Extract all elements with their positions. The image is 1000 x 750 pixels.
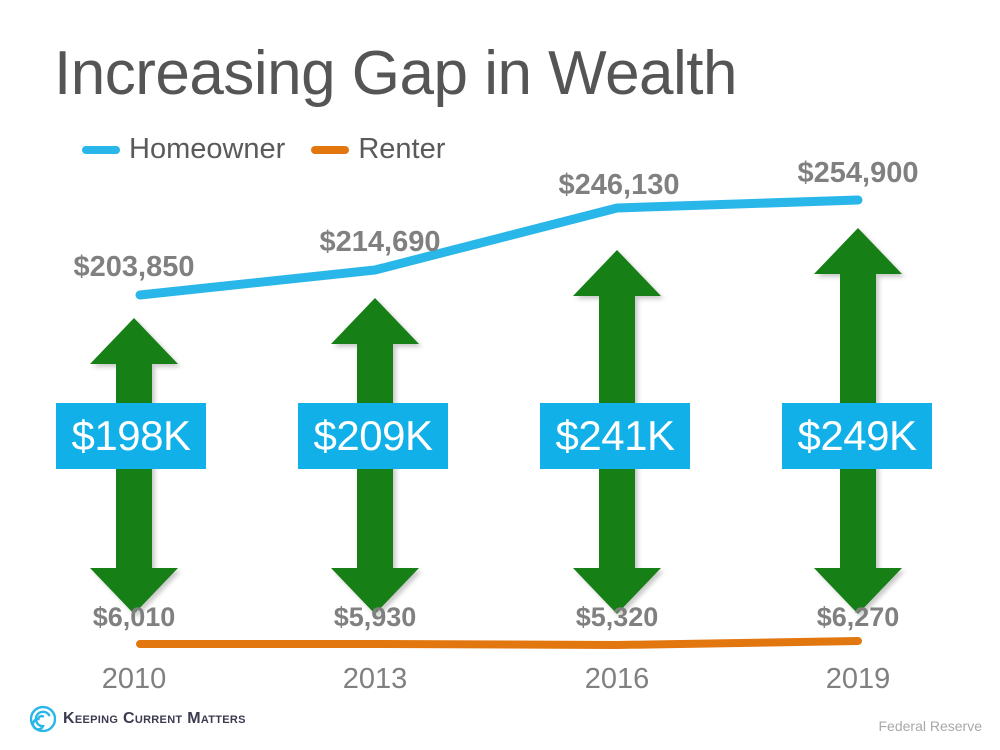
renter-value-2013: $5,930 [305, 602, 445, 633]
homeowner-line [140, 200, 858, 295]
gap-box-2019: $249K [782, 403, 932, 469]
gap-box-2016: $241K [540, 403, 690, 469]
homeowner-value-2010: $203,850 [64, 251, 204, 284]
homeowner-value-2013: $214,690 [310, 226, 450, 259]
brand-footer: Keeping Current Matters [30, 706, 246, 732]
x-axis-label-2016: 2016 [547, 663, 687, 696]
gap-box-2013: $209K [298, 403, 448, 469]
chart-plot-area [0, 0, 1000, 750]
homeowner-value-2019: $254,900 [788, 157, 928, 190]
spiral-logo-icon [30, 706, 56, 732]
gap-box-2010: $198K [56, 403, 206, 469]
source-attribution: Federal Reserve [879, 718, 983, 734]
x-axis-label-2013: 2013 [305, 663, 445, 696]
renter-value-2016: $5,320 [547, 602, 687, 633]
x-axis-label-2010: 2010 [64, 663, 204, 696]
renter-value-2019: $6,270 [788, 602, 928, 633]
x-axis-label-2019: 2019 [788, 663, 928, 696]
renter-line [140, 641, 858, 645]
brand-name: Keeping Current Matters [63, 710, 246, 728]
renter-value-2010: $6,010 [64, 602, 204, 633]
homeowner-value-2016: $246,130 [549, 169, 689, 202]
infographic-canvas: Increasing Gap in Wealth Homeowner Rente… [0, 0, 1000, 750]
